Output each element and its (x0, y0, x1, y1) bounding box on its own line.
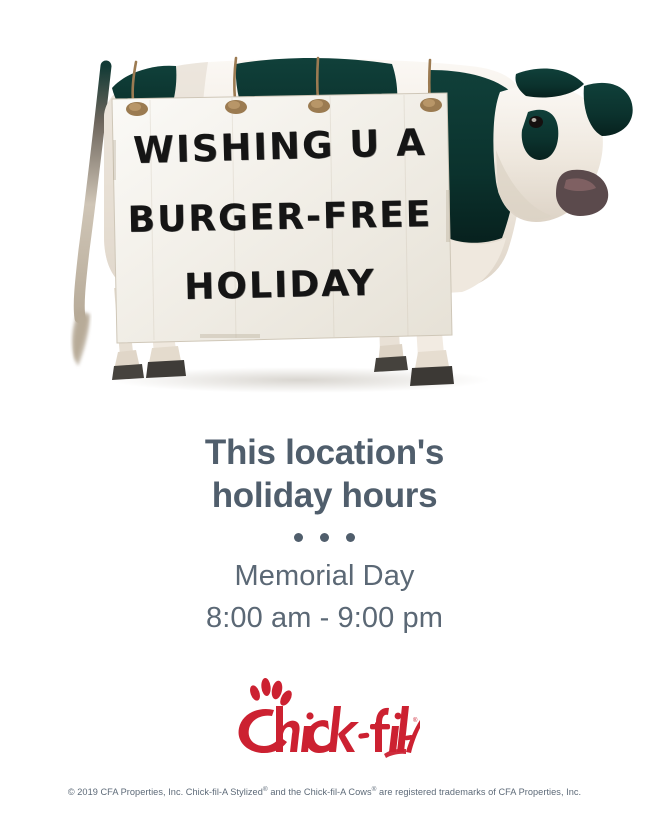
cow-hoof (146, 360, 186, 378)
copyright-symbol: © (68, 787, 75, 797)
footer-legal: © 2019 CFA Properties, Inc. Chick-fil-A … (0, 786, 649, 797)
cow-head (493, 69, 632, 222)
cow-muzzle (556, 170, 608, 216)
headline-line-1: This location's (205, 433, 444, 472)
holiday-hours: Memorial Day 8:00 am - 9:00 pm (0, 556, 649, 638)
separator-dot (346, 533, 355, 542)
cow-hoof (112, 364, 144, 380)
hero-section: WISHING U A BURGER-FREE HOLIDAY (0, 0, 649, 410)
footer-text-3: are registered trademarks of CFA Propert… (376, 787, 581, 797)
registered-trademark-icon: ® (413, 717, 418, 724)
three-dot-separator (0, 533, 649, 542)
cow-hoof (374, 356, 408, 372)
footer-text-2: and the Chick-fil-A Cows (268, 787, 372, 797)
headline-line-2: holiday hours (212, 476, 438, 515)
message-block: This location's holiday hours Memorial D… (0, 432, 649, 639)
cow-illustration (0, 0, 649, 410)
holiday-hours-value: 8:00 am - 9:00 pm (0, 598, 649, 639)
holiday-name: Memorial Day (0, 556, 649, 597)
cow-hoof (410, 366, 454, 386)
chick-fil-a-logo: ® (230, 676, 420, 760)
cow-image (0, 0, 649, 410)
cow-sign-board (112, 93, 452, 343)
separator-dot (294, 533, 303, 542)
separator-dot (320, 533, 329, 542)
cow-tail (72, 66, 106, 366)
brand-logo: ® (0, 676, 649, 760)
holiday-hours-poster: WISHING U A BURGER-FREE HOLIDAY This loc… (0, 0, 649, 840)
page-title: This location's holiday hours (0, 432, 649, 517)
footer-text-1: 2019 CFA Properties, Inc. Chick-fil-A St… (75, 787, 263, 797)
